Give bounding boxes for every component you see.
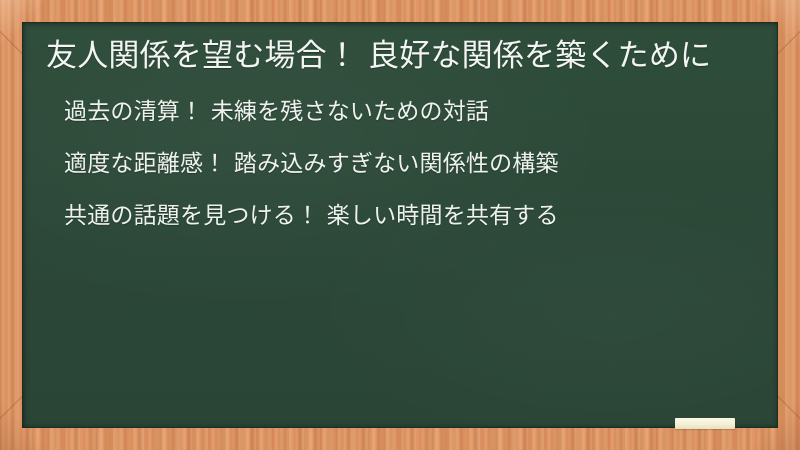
- slide-bullet-list: 過去の清算！ 未練を残さないための対話 適度な距離感！ 踏み込みすぎない関係性の…: [46, 101, 754, 228]
- bullet-item: 過去の清算！ 未練を残さないための対話: [64, 101, 754, 124]
- chalkboard-content: 友人関係を望む場合！ 良好な関係を築くために 過去の清算！ 未練を残さないための…: [22, 22, 778, 428]
- chalk-stick: [675, 418, 735, 429]
- chalkboard-surface: 友人関係を望む場合！ 良好な関係を築くために 過去の清算！ 未練を残さないための…: [22, 22, 778, 428]
- blackboard-slide: 友人関係を望む場合！ 良好な関係を築くために 過去の清算！ 未練を残さないための…: [0, 0, 800, 450]
- bullet-item: 適度な距離感！ 踏み込みすぎない関係性の構築: [64, 153, 754, 176]
- bullet-item: 共通の話題を見つける！ 楽しい時間を共有する: [64, 205, 754, 228]
- slide-title: 友人関係を望む場合！ 良好な関係を築くために: [46, 36, 754, 77]
